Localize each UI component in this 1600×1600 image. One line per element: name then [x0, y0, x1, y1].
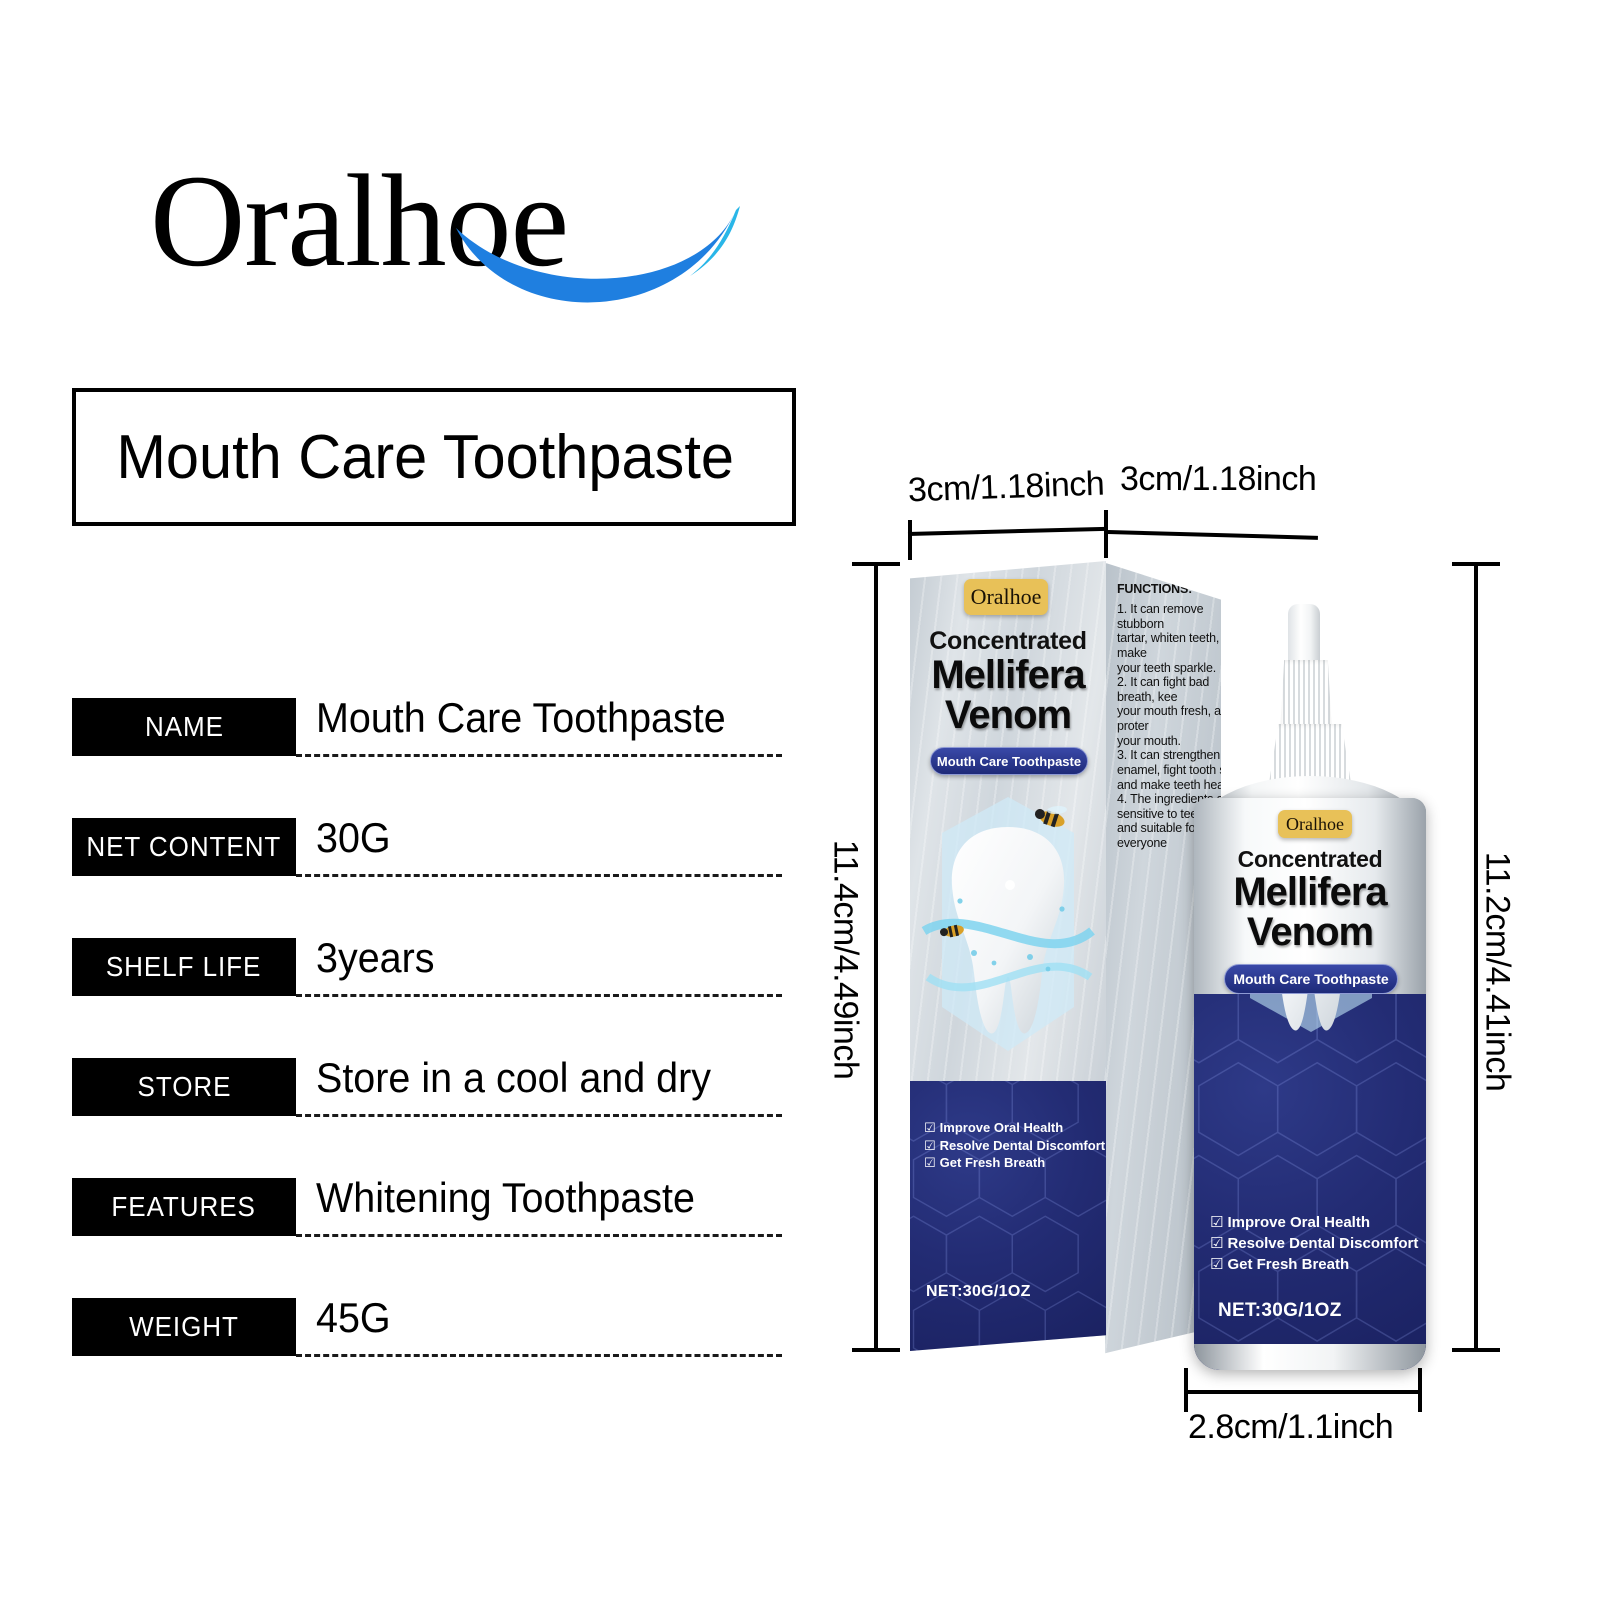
box-line-venom: Venom: [910, 697, 1106, 734]
benefit-label: Improve Oral Health: [1227, 1212, 1370, 1233]
dimension-box-height: 11.4cm/4.49inch: [826, 795, 865, 1125]
dimension-line: [1184, 1390, 1422, 1394]
bottle-pill-label: Mouth Care Toothpaste: [1233, 971, 1388, 987]
page-title: Mouth Care Toothpaste: [76, 422, 734, 493]
box-benefits: ☑Improve Oral Health ☑Resolve Dental Dis…: [924, 1119, 1105, 1172]
benefit-label: Resolve Dental Discomfort: [1227, 1233, 1418, 1254]
benefit-item: ☑Resolve Dental Discomfort: [924, 1137, 1105, 1155]
spec-label: FEATURES: [112, 1191, 256, 1223]
spec-value: Store in a cool and dry: [316, 1054, 711, 1102]
tick: [1418, 1368, 1422, 1412]
spec-label: SHELF LIFE: [106, 951, 261, 983]
cap-tip: [1288, 604, 1320, 666]
table-row: NAME Mouth Care Toothpaste: [72, 698, 782, 818]
table-row: STORE Store in a cool and dry: [72, 1058, 782, 1178]
bottle-benefits: ☑Improve Oral Health ☑Resolve Dental Dis…: [1210, 1212, 1418, 1275]
bottle-body: Oralhoe Concentrated Mellifera Venom Mou…: [1194, 798, 1426, 1370]
box-navy-panel: ☑Improve Oral Health ☑Resolve Dental Dis…: [910, 1081, 1106, 1351]
box-pill: Mouth Care Toothpaste: [930, 747, 1088, 775]
dimension-box-width: 3cm/1.18inch: [907, 465, 1104, 511]
product-bottle: Oralhoe Concentrated Mellifera Venom Mou…: [1186, 580, 1436, 1370]
dimension-bottle-height: 11.2cm/4.41inch: [1478, 807, 1517, 1137]
benefit-item: ☑Improve Oral Health: [924, 1119, 1105, 1137]
table-row: FEATURES Whitening Toothpaste: [72, 1178, 782, 1298]
check-icon: ☑: [1210, 1212, 1223, 1233]
check-icon: ☑: [924, 1119, 936, 1137]
spec-value: Whitening Toothpaste: [316, 1174, 695, 1222]
bottle-brand-badge: Oralhoe: [1278, 810, 1352, 838]
dimension-line: [1108, 530, 1318, 540]
box-net-weight: NET:30G/1OZ: [926, 1283, 1031, 1301]
benefit-item: ☑Improve Oral Health: [1210, 1212, 1418, 1233]
spec-value: Mouth Care Toothpaste: [316, 694, 726, 742]
check-icon: ☑: [1210, 1233, 1223, 1254]
spec-label-chip: NAME: [72, 698, 296, 756]
product-box: FUNCTIONS: 1. It can remove stubborn tar…: [910, 558, 1220, 1353]
product-scene: 3cm/1.18inch 3cm/1.18inch 11.4cm/4.49inc…: [790, 440, 1590, 1480]
cap-upper-ribs: [1280, 660, 1332, 732]
bottle-pill: Mouth Care Toothpaste: [1224, 964, 1398, 994]
benefit-item: ☑Get Fresh Breath: [1210, 1254, 1418, 1275]
benefit-label: Get Fresh Breath: [940, 1154, 1045, 1172]
box-pill-label: Mouth Care Toothpaste: [937, 754, 1081, 769]
spec-table: NAME Mouth Care Toothpaste NET CONTENT 3…: [72, 698, 782, 1418]
dimension-line: [874, 562, 878, 1352]
spec-label-chip: FEATURES: [72, 1178, 296, 1236]
benefit-label: Resolve Dental Discomfort: [940, 1137, 1105, 1155]
spec-value: 45G: [316, 1294, 391, 1342]
check-icon: ☑: [924, 1154, 936, 1172]
bottle-line-mellifera: Mellifera: [1194, 874, 1426, 911]
dashed-underline: [296, 1354, 782, 1357]
tick: [852, 1348, 900, 1352]
bottle-tooth-artwork: [1222, 994, 1400, 1054]
spec-value: 30G: [316, 814, 391, 862]
benefit-label: Get Fresh Breath: [1227, 1254, 1349, 1275]
brand-badge: Oralhoe: [964, 579, 1048, 615]
bottle-navy-panel: ☑Improve Oral Health ☑Resolve Dental Dis…: [1194, 994, 1426, 1370]
box-front-panel: Oralhoe Concentrated Mellifera Venom Mou…: [910, 561, 1106, 1351]
spec-label: NET CONTENT: [87, 831, 282, 863]
benefit-label: Improve Oral Health: [940, 1119, 1064, 1137]
dashed-underline: [296, 1234, 782, 1237]
check-icon: ☑: [1210, 1254, 1223, 1275]
spec-label: STORE: [137, 1071, 231, 1103]
spec-value: 3years: [316, 934, 434, 982]
bottle-line-concentrated: Concentrated: [1194, 846, 1426, 873]
brand-badge-label: Oralhoe: [971, 586, 1042, 608]
page-title-box: Mouth Care Toothpaste: [72, 388, 796, 526]
box-line-concentrated: Concentrated: [910, 627, 1106, 656]
brand-logo: Oralhoe: [150, 155, 750, 320]
tick: [1452, 1348, 1500, 1352]
benefit-item: ☑Get Fresh Breath: [924, 1154, 1105, 1172]
dashed-underline: [296, 1114, 782, 1117]
dimension-bottle-width: 3cm/1.18inch: [1120, 460, 1316, 499]
spec-label: NAME: [145, 711, 224, 743]
dimension-bottle-base-width: 2.8cm/1.1inch: [1188, 1408, 1393, 1447]
dashed-underline: [296, 754, 782, 757]
dashed-underline: [296, 874, 782, 877]
spec-label-chip: SHELF LIFE: [72, 938, 296, 996]
dashed-underline: [296, 994, 782, 997]
table-row: SHELF LIFE 3years: [72, 938, 782, 1058]
bottle-net-weight: NET:30G/1OZ: [1218, 1300, 1342, 1322]
benefit-item: ☑Resolve Dental Discomfort: [1210, 1233, 1418, 1254]
box-line-mellifera: Mellifera: [910, 657, 1106, 694]
bottle-cap: [1262, 604, 1358, 800]
tick: [908, 520, 912, 560]
spec-label-chip: STORE: [72, 1058, 296, 1116]
swoosh-icon: [450, 200, 750, 320]
check-icon: ☑: [924, 1137, 936, 1155]
table-row: NET CONTENT 30G: [72, 818, 782, 938]
spec-label: WEIGHT: [129, 1311, 239, 1343]
spec-label-chip: WEIGHT: [72, 1298, 296, 1356]
spec-label-chip: NET CONTENT: [72, 818, 296, 876]
bottle-brand-badge-label: Oralhoe: [1286, 815, 1344, 833]
tooth-artwork: [914, 781, 1102, 1081]
dimension-line: [908, 527, 1106, 536]
table-row: WEIGHT 45G: [72, 1298, 782, 1418]
bottle-line-venom: Venom: [1194, 914, 1426, 951]
